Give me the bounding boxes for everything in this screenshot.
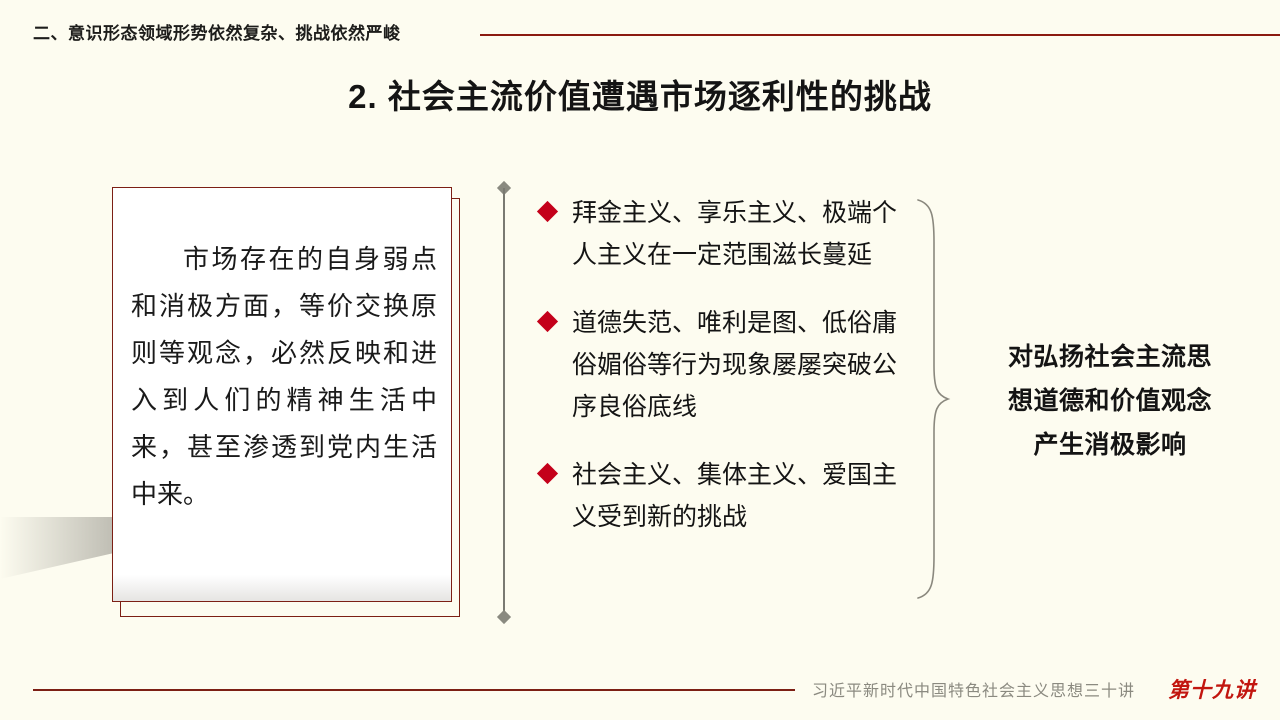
card-inner-shade [113, 575, 451, 601]
footer-series-label: 习近平新时代中国特色社会主义思想三十讲 [812, 677, 1135, 701]
connector-diamond-bottom-icon [497, 610, 511, 624]
slide-header: 二、意识形态领域形势依然复杂、挑战依然严峻 [0, 10, 1280, 42]
conclusion-text: 对弘扬社会主流思 想道德和价值观念 产生消极影响 [960, 335, 1260, 467]
list-item-label: 社会主义、集体主义、爱国主义受到新的挑战 [572, 454, 920, 538]
list-item-label: 道德失范、唯利是图、低俗庸俗媚俗等行为现象屡屡突破公序良俗底线 [572, 302, 920, 428]
section-heading: 二、意识形态领域形势依然复杂、挑战依然严峻 [33, 19, 401, 44]
bullet-list: 拜金主义、享乐主义、极端个人主义在一定范围滋长蔓延 道德失范、唯利是图、低俗庸俗… [540, 192, 920, 564]
diamond-bullet-icon [537, 463, 558, 484]
conclusion-line-3: 产生消极影响 [960, 423, 1260, 467]
card-shadow-wedge [0, 517, 114, 579]
connector-line [503, 188, 505, 620]
list-item-label: 拜金主义、享乐主义、极端个人主义在一定范围滋长蔓延 [572, 192, 920, 276]
header-divider-line [480, 34, 1280, 36]
quote-card-front: 市场存在的自身弱点和消极方面，等价交换原则等观念，必然反映和进入到人们的精神生活… [112, 187, 452, 602]
footer-lecture-badge: 第十九讲 [1168, 674, 1256, 704]
conclusion-line-1: 对弘扬社会主流思 [960, 335, 1260, 379]
quote-card: 市场存在的自身弱点和消极方面，等价交换原则等观念，必然反映和进入到人们的精神生活… [112, 187, 462, 619]
curly-brace-icon [912, 198, 952, 600]
list-item: 拜金主义、享乐主义、极端个人主义在一定范围滋长蔓延 [540, 192, 920, 276]
quote-card-text: 市场存在的自身弱点和消极方面，等价交换原则等观念，必然反映和进入到人们的精神生活… [131, 236, 437, 518]
list-item: 道德失范、唯利是图、低俗庸俗媚俗等行为现象屡屡突破公序良俗底线 [540, 302, 920, 428]
conclusion-line-2: 想道德和价值观念 [960, 379, 1260, 423]
vertical-connector [498, 182, 510, 626]
diamond-bullet-icon [537, 311, 558, 332]
diamond-bullet-icon [537, 201, 558, 222]
list-item: 社会主义、集体主义、爱国主义受到新的挑战 [540, 454, 920, 538]
slide-canvas: 二、意识形态领域形势依然复杂、挑战依然严峻 2. 社会主流价值遭遇市场逐利性的挑… [0, 0, 1280, 720]
page-title: 2. 社会主流价值遭遇市场逐利性的挑战 [0, 70, 1280, 118]
footer-divider-line [33, 689, 795, 691]
